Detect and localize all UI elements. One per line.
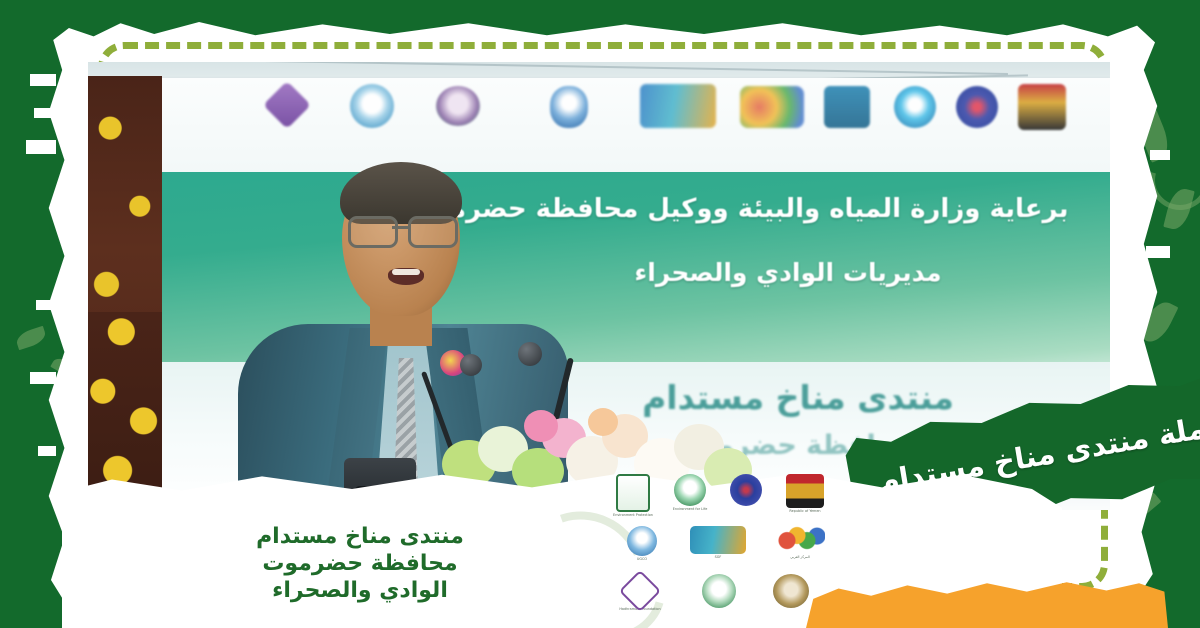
leaf-icon: [14, 326, 47, 350]
brush-spike: [36, 300, 54, 310]
stage-banner-line2: مديريات الوادي والصحراء: [508, 258, 1068, 287]
brush-spike: [1150, 150, 1170, 160]
logo-mark: [619, 570, 661, 612]
sponsor-logo-tree-society: [350, 84, 394, 128]
speaker-mouth: [388, 268, 424, 285]
logo-caption: Environment for Life: [673, 507, 708, 511]
speaker-glasses: [346, 216, 458, 242]
logo-mark: [690, 526, 746, 554]
logo-arab-center: المركز العربي: [768, 526, 832, 559]
bottom-caption-line2: محافظة حضرموت: [210, 551, 510, 578]
glasses-lens-right: [408, 216, 458, 248]
microphone-head: [518, 342, 542, 366]
poster-canvas: برعاية وزارة المياه والبيئة ووكيل محافظة…: [0, 0, 1200, 628]
sponsor-logo-charity: [436, 86, 480, 126]
glasses-lens-left: [348, 216, 398, 248]
brush-spike: [34, 108, 54, 118]
logo-yemen-republic: Republic of Yemen: [780, 474, 830, 513]
bottom-caption: منتدى مناخ مستدام محافظة حضرموت الوادي و…: [210, 524, 510, 604]
logo-caption: UGCO: [637, 557, 647, 561]
logo-mark: [786, 474, 824, 508]
brush-spike: [38, 446, 56, 456]
logo-mark: [674, 474, 706, 506]
logo-mark: [775, 526, 825, 554]
sponsor-logo-circular-blue: [956, 86, 998, 128]
sponsor-logo-arab-center: [740, 86, 804, 128]
stage-banner-line1: برعاية وزارة المياه والبيئة ووكيل محافظة…: [388, 194, 1088, 224]
brush-spike: [30, 372, 56, 384]
brush-spike: [26, 140, 56, 154]
logo-hadhramout-foundation: Hadhramout Foundation: [612, 576, 668, 611]
bottom-caption-line3: الوادي والصحراء: [210, 578, 510, 605]
sponsor-logo-sgf: [640, 84, 716, 128]
sponsor-logo-yemen-republic: [1018, 84, 1066, 130]
bottom-caption-line1: منتدى مناخ مستدام: [210, 524, 510, 551]
logo-circular-blue: [724, 474, 768, 506]
logo-sgf: SGF: [684, 526, 752, 559]
logo-mark: [627, 526, 657, 556]
microphone-head: [460, 354, 482, 376]
logo-tree-society: [694, 574, 744, 608]
logo-caption: المركز العربي: [790, 555, 810, 559]
brush-spike: [1146, 246, 1170, 258]
lattice-panel-lower: [88, 312, 162, 510]
logo-mark: [616, 474, 650, 512]
logo-caption: SGF: [715, 555, 722, 559]
brush-spike: [30, 74, 56, 86]
logo-caption: Environment Protection: [613, 513, 653, 517]
sponsor-logo-ugco: [550, 86, 588, 128]
logo-mark: [730, 474, 762, 506]
sponsor-logo-circular-teal: [894, 86, 936, 128]
logo-environment-protection: Environment Protection: [610, 474, 656, 517]
flower-icon: [588, 408, 618, 436]
logo-mark: [773, 574, 809, 608]
logo-environment-for-life: Environment for Life: [666, 474, 714, 511]
logo-mark: [702, 574, 736, 608]
logo-development-society: [764, 574, 818, 608]
logo-ugco: UGCO: [614, 526, 670, 561]
flower-icon: [524, 410, 558, 442]
glasses-bridge: [392, 226, 410, 229]
logo-caption: Republic of Yemen: [789, 509, 820, 513]
sponsor-logo-blue-emblem: [824, 86, 870, 128]
